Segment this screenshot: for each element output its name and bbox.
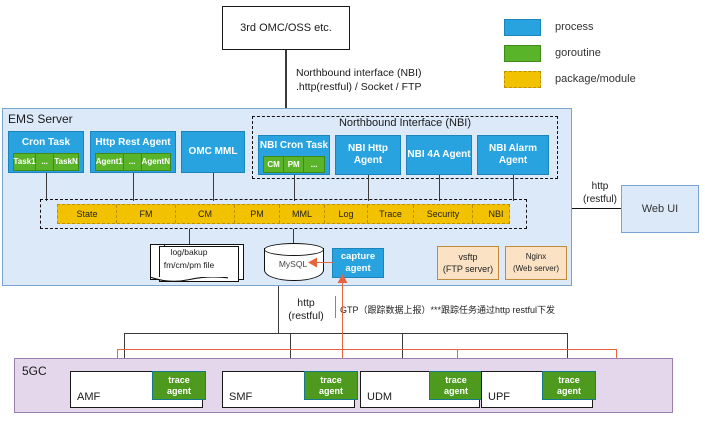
legend-label-package-module: package/module (555, 73, 636, 85)
goroutine-group-http-rest-agent: Agent1 ... AgentN (95, 153, 171, 171)
fivegc-title: 5GC (22, 364, 47, 378)
file-store-label: log/bakup fm/cm/pm file (150, 246, 228, 272)
goroutine-cron-task-ellipsis: ... (36, 154, 54, 170)
http-restful-label-line1: http (282, 297, 330, 310)
legend-label-process: process (555, 21, 594, 33)
connector-ems-to-webui (572, 208, 621, 209)
northbound-interface-group-title: Northbound Interface (NBI) (252, 117, 558, 129)
network-function-upf[interactable]: UPF trace agent (481, 371, 593, 408)
nbi-annotation-line2: .http(restful) / Socket / FTP (296, 80, 526, 94)
goroutine-nbi-cm: CM (264, 157, 284, 172)
goroutine-nbi-pm: PM (284, 157, 304, 172)
trace-agent-smf-line1: trace (319, 375, 343, 386)
connector-trace-bus-horizontal (117, 349, 617, 350)
network-function-udm[interactable]: UDM trace agent (360, 371, 480, 408)
web-ui-box[interactable]: Web UI (621, 185, 699, 233)
service-nginx-line1: Nginx (513, 251, 559, 263)
trace-agent-smf[interactable]: trace agent (304, 371, 358, 400)
goroutine-group-cron-task: Task1 ... TaskN (13, 153, 79, 171)
legend-swatch-package-module (504, 71, 541, 88)
module-security[interactable]: Security (414, 205, 473, 223)
trace-agent-udm[interactable]: trace agent (429, 371, 483, 400)
legend-label-goroutine: goroutine (555, 47, 601, 59)
process-omc-mml-title: OMC MML (189, 146, 238, 158)
module-mml[interactable]: MML (280, 205, 325, 223)
arrow-capture-to-database-head (308, 257, 318, 268)
network-function-upf-label: UPF (488, 391, 510, 403)
connector-5gc-bus-horizontal (124, 333, 568, 334)
legend-swatch-process (504, 19, 541, 36)
process-omc-mml[interactable]: OMC MML (181, 131, 245, 173)
file-store-label-line1: log/bakup (150, 246, 228, 259)
service-nginx[interactable]: Nginx (Web server) (505, 246, 567, 280)
trace-agent-amf[interactable]: trace agent (152, 371, 206, 400)
third-party-omc-oss-label: 3rd OMC/OSS etc. (240, 22, 332, 34)
module-fm[interactable]: FM (117, 205, 176, 223)
legend-item-package-module: package/module (504, 70, 636, 88)
trace-agent-upf[interactable]: trace agent (542, 371, 596, 400)
legend-swatch-goroutine (504, 45, 541, 62)
module-state[interactable]: State (58, 205, 117, 223)
connector-capture-agent-trace-bus (342, 278, 343, 350)
http-restful-label-line2: (restful) (282, 310, 330, 323)
file-store-label-line2: fm/cm/pm file (150, 259, 228, 272)
web-ui-label: Web UI (642, 203, 678, 215)
connector-nbi-4a-agent-to-modules (439, 175, 440, 201)
connector-modules-to-file-store (189, 229, 190, 245)
legend: process goroutine package/module (504, 18, 699, 88)
file-store-icon: log/bakup fm/cm/pm file (150, 244, 242, 284)
oss-to-ems-connector (285, 50, 287, 112)
process-nbi-cron-task[interactable]: NBI Cron Task CM PM ... (258, 135, 330, 175)
goroutine-cron-task-1: Task1 (14, 154, 36, 170)
third-party-omc-oss-box: 3rd OMC/OSS etc. (222, 6, 350, 50)
process-nbi-alarm-agent[interactable]: NBI Alarm Agent (477, 135, 549, 175)
trace-agent-udm-line2: agent (444, 386, 468, 397)
goroutine-http-rest-agent-ellipsis: ... (124, 154, 142, 170)
service-vsftp-line2: (FTP server) (443, 263, 493, 275)
process-nbi-http-agent[interactable]: NBI Http Agent (335, 135, 401, 175)
process-nbi-cron-task-title: NBI Cron Task (259, 136, 329, 156)
connector-omc-mml-to-modules (213, 173, 214, 201)
http-restful-label: http (restful) (282, 297, 330, 323)
network-function-smf-label: SMF (229, 391, 252, 403)
network-function-amf-label: AMF (77, 391, 100, 403)
arrow-trace-bus-head (337, 274, 348, 284)
trace-agent-upf-line1: trace (557, 375, 581, 386)
connector-ems-to-5gc-bus (278, 286, 279, 334)
connector-nbi-alarm-agent-to-modules (513, 175, 514, 201)
gtp-divider (335, 296, 336, 318)
process-nbi-http-agent-title: NBI Http Agent (336, 143, 400, 167)
webui-link-label-line1: http (578, 180, 622, 193)
trace-agent-smf-line2: agent (319, 386, 343, 397)
goroutine-http-rest-agent-1: Agent1 (96, 154, 124, 170)
connector-http-rest-agent-to-modules (133, 173, 134, 201)
module-trace[interactable]: Trace (368, 205, 414, 223)
ems-server-title: EMS Server (8, 112, 73, 126)
service-nginx-line2: (Web server) (513, 263, 559, 275)
module-nbi[interactable]: NBI (473, 205, 519, 223)
module-bar: State FM CM PM MML Log Trace Security NB… (57, 204, 510, 224)
trace-agent-udm-line1: trace (444, 375, 468, 386)
trace-agent-upf-line2: agent (557, 386, 581, 397)
webui-link-label-line2: (restful) (578, 193, 622, 206)
module-cm[interactable]: CM (176, 205, 235, 223)
service-vsftp-line1: vsftp (443, 251, 493, 263)
goroutine-nbi-ellipsis: ... (304, 157, 324, 172)
northbound-interface-annotation: Northbound interface (NBI) .http(restful… (296, 66, 526, 94)
trace-agent-amf-line1: trace (167, 375, 191, 386)
process-cron-task-title: Cron Task (9, 132, 83, 153)
connector-nbi-http-agent-to-modules (368, 175, 369, 201)
process-http-rest-agent-title: Http Rest Agent (91, 132, 175, 153)
goroutine-http-rest-agent-n: AgentN (142, 154, 170, 170)
process-cron-task[interactable]: Cron Task Task1 ... TaskN (8, 131, 84, 173)
module-log[interactable]: Log (325, 205, 368, 223)
service-vsftp[interactable]: vsftp (FTP server) (437, 246, 499, 280)
connector-cron-task-to-modules (46, 173, 47, 201)
process-nbi-alarm-agent-title: NBI Alarm Agent (478, 143, 548, 167)
file-store-wave-icon (150, 277, 228, 284)
module-pm[interactable]: PM (235, 205, 280, 223)
connector-modules-to-database (293, 229, 294, 244)
legend-item-process: process (504, 18, 594, 36)
database-top-ellipse (264, 243, 324, 256)
legend-item-goroutine: goroutine (504, 44, 601, 62)
process-nbi-4a-agent[interactable]: NBI 4A Agent (406, 135, 472, 175)
process-nbi-4a-agent-title: NBI 4A Agent (407, 149, 470, 161)
network-function-udm-label: UDM (367, 391, 392, 403)
connector-nbi-cron-task-to-modules (294, 175, 295, 201)
capture-agent-line1: capture (341, 251, 375, 263)
goroutine-cron-task-n: TaskN (54, 154, 78, 170)
network-function-smf[interactable]: SMF trace agent (222, 371, 355, 408)
network-function-amf[interactable]: AMF trace agent (70, 371, 203, 408)
webui-link-label: http (restful) (578, 180, 622, 206)
gtp-annotation: GTP（跟踪数据上报）***跟踪任务通过http restful下发 (340, 303, 640, 316)
goroutine-group-nbi-cron-task: CM PM ... (263, 156, 325, 173)
nbi-annotation-line1: Northbound interface (NBI) (296, 66, 526, 80)
process-http-rest-agent[interactable]: Http Rest Agent Agent1 ... AgentN (90, 131, 176, 173)
trace-agent-amf-line2: agent (167, 386, 191, 397)
